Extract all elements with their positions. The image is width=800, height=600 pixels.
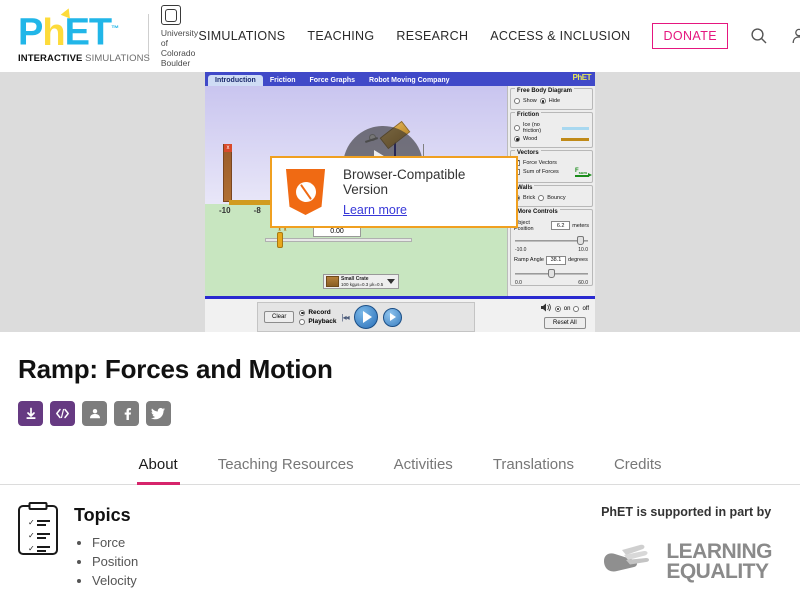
learning-equality-hand-icon [600, 541, 658, 583]
force-vectors-label: Force Vectors [523, 160, 557, 166]
object-position-unit: meters [572, 223, 589, 229]
ramp-angle-label: Ramp Angle [514, 257, 544, 263]
download-button[interactable] [18, 401, 43, 426]
tab-credits[interactable]: Credits [612, 450, 664, 484]
share-button[interactable] [82, 401, 107, 426]
logo-divider [148, 14, 149, 58]
coffee-bean-glyph [292, 178, 320, 206]
sponsor-label: PhET is supported in part by [600, 505, 772, 519]
playback-controls: Clear Record Playback |◂◂ [257, 302, 475, 332]
sim-mini-logo: PhET [573, 73, 591, 82]
cu-line-1: University [161, 28, 198, 38]
record-label: Record [308, 309, 330, 316]
sound-on-label: on [564, 306, 571, 312]
walls-group: Walls Brick Bouncy [510, 185, 593, 207]
cu-mark-icon [161, 5, 181, 25]
tick--8: -8 [254, 206, 261, 215]
clipboard-check-2: ✓ [28, 532, 35, 540]
crate-thumbnail-icon [326, 276, 339, 287]
search-icon[interactable] [750, 27, 768, 45]
sim-bottom-toolbar: Clear Record Playback |◂◂ [205, 296, 595, 332]
clipboard-check-3: ✓ [28, 545, 35, 553]
more-controls-group: More Controls Object Position 6.2 meters… [510, 209, 593, 286]
playback-row[interactable]: Playback [299, 318, 336, 325]
playback-label: Playback [308, 318, 336, 325]
badge-learn-more-link[interactable]: Learn more [343, 203, 502, 217]
sound-controls: on off [541, 303, 589, 314]
object-position-label: Object Position [514, 220, 549, 232]
ramp-angle-unit: degrees [568, 257, 588, 263]
reset-all-button[interactable]: Reset All [544, 317, 586, 329]
friction-ice-radio[interactable] [514, 125, 520, 131]
walls-bouncy-label: Bouncy [547, 195, 565, 201]
fsum-arrow-icon [575, 175, 589, 177]
friction-ice-row: Ice (no friction) [514, 122, 589, 134]
friction-title: Friction [515, 112, 541, 118]
content-tabs: About Teaching Resources Activities Tran… [0, 450, 800, 485]
applied-force-slider[interactable] [265, 238, 412, 242]
donate-button[interactable]: DONATE [652, 23, 728, 49]
nav-item-research[interactable]: RESEARCH [396, 29, 468, 43]
chevron-down-icon[interactable] [387, 279, 395, 284]
fbd-show-radio[interactable] [514, 98, 520, 104]
badge-title: Browser-Compatible Version [343, 167, 502, 197]
crate-name: Small Crate [341, 276, 369, 282]
sound-and-reset-area: on off Reset All [541, 303, 589, 329]
sum-of-forces-row: Sum of Forces Fsum [514, 168, 589, 177]
friction-group: Friction Ice (no friction) Wood [510, 112, 593, 148]
sound-off-label: off [582, 306, 589, 312]
sim-tab-introduction[interactable]: Introduction [208, 75, 263, 86]
topic-force: Force [92, 533, 138, 552]
twitter-button[interactable] [146, 401, 171, 426]
sim-control-panel: Free Body Diagram Show Hide Friction Ice… [507, 86, 595, 296]
ice-swatch [562, 127, 589, 130]
rewind-icon[interactable]: |◂◂ [342, 313, 349, 322]
record-row[interactable]: Record [299, 309, 336, 316]
fbd-hide-radio[interactable] [540, 98, 546, 104]
le-line-2: EQUALITY [666, 562, 772, 582]
fbd-title: Free Body Diagram [515, 88, 574, 94]
nav-item-teaching[interactable]: TEACHING [307, 29, 374, 43]
clear-button[interactable]: Clear [264, 311, 294, 323]
tab-translations[interactable]: Translations [491, 450, 576, 484]
object-selector-dropdown[interactable]: Small Crate 100 kgμs=0.3 μk=0.5 [323, 274, 399, 289]
record-radio[interactable] [299, 310, 305, 316]
playback-radio[interactable] [299, 319, 305, 325]
force-vectors-row: Force Vectors [514, 160, 589, 166]
logo-letter-h: h [42, 12, 64, 54]
action-buttons-row [18, 401, 782, 426]
walls-brick-label: Brick [523, 195, 535, 201]
walls-options: Brick Bouncy [514, 195, 589, 201]
cu-line-3: Boulder [161, 58, 198, 68]
sim-tab-force-graphs[interactable]: Force Graphs [303, 75, 363, 86]
topic-position: Position [92, 552, 138, 571]
play-button[interactable] [354, 305, 378, 329]
object-position-input[interactable]: 6.2 [551, 221, 570, 230]
ramp-angle-slider[interactable]: 0.0 60.0 [515, 269, 588, 281]
object-position-slider-knob[interactable] [577, 236, 584, 245]
sponsor-block: PhET is supported in part by LEARNING EQ… [600, 505, 782, 590]
object-position-min: -10.0 [515, 247, 526, 253]
fsum-vector-icon: Fsum [575, 168, 589, 177]
logo-tagline-bold: INTERACTIVE [18, 53, 82, 64]
clipboard-checklist-icon: ✓ ✓ ✓ [18, 505, 58, 555]
record-playback-group: Record Playback [299, 309, 336, 325]
site-header: PhET™ INTERACTIVE SIMULATIONS University… [0, 0, 800, 72]
friction-wood-label: Wood [523, 136, 537, 142]
logo-tm: ™ [111, 24, 118, 33]
friction-wood-radio[interactable] [514, 136, 520, 142]
sound-on-radio[interactable] [555, 306, 561, 312]
friction-ice-label: Ice (no friction) [523, 122, 559, 134]
page-title: Ramp: Forces and Motion [18, 354, 782, 385]
sim-tab-bar: Introduction Friction Force Graphs Robot… [205, 72, 595, 86]
sum-of-forces-label: Sum of Forces [523, 169, 559, 175]
wall-remove-icon[interactable]: x [224, 144, 232, 152]
more-controls-title: More Controls [515, 209, 560, 215]
ramp-angle-max: 60.0 [578, 280, 588, 286]
crate-specs: 100 kgμs=0.3 μk=0.5 [341, 282, 383, 288]
free-body-diagram-group: Free Body Diagram Show Hide [510, 88, 593, 110]
facebook-button[interactable] [114, 401, 139, 426]
main-nav: SIMULATIONS TEACHING RESEARCH ACCESS & I… [198, 23, 800, 49]
wall-post [223, 144, 232, 202]
nav-item-access-inclusion[interactable]: ACCESS & INCLUSION [490, 29, 630, 43]
object-position-max: 10.0 [578, 247, 588, 253]
learning-equality-logo[interactable]: LEARNING EQUALITY [600, 541, 772, 583]
ramp-angle-min: 0.0 [515, 280, 522, 286]
sound-off-radio[interactable] [573, 306, 579, 312]
tick--10: -10 [219, 206, 231, 215]
phet-logo-block[interactable]: PhET™ INTERACTIVE SIMULATIONS University… [18, 5, 198, 68]
wood-swatch [561, 138, 589, 141]
applied-force-slider-knob[interactable] [277, 232, 283, 248]
walls-bouncy-radio[interactable] [538, 195, 544, 201]
clipboard-check-1: ✓ [28, 519, 35, 527]
ramp-angle-input[interactable]: 38.1 [546, 256, 566, 265]
title-section: Ramp: Forces and Motion [0, 332, 800, 426]
tab-about[interactable]: About [137, 450, 180, 484]
user-icon[interactable] [790, 27, 800, 45]
sim-tab-friction[interactable]: Friction [263, 75, 303, 86]
topics-list: Force Position Velocity [92, 533, 138, 590]
le-line-1: LEARNING [666, 542, 772, 562]
object-position-slider[interactable]: -10.0 10.0 [515, 236, 588, 248]
vectors-title: Vectors [515, 150, 541, 156]
fbd-hide-label: Hide [549, 98, 560, 104]
logo-letter-et: ET [65, 12, 112, 54]
topics-block: ✓ ✓ ✓ Topics Force Position Velocity [18, 505, 138, 590]
ramp-angle-row: Ramp Angle 38.1 degrees [514, 256, 589, 265]
simulation-strip: Introduction Friction Force Graphs Robot… [0, 72, 800, 332]
tab-activities[interactable]: Activities [392, 450, 455, 484]
html5-shield-icon [286, 169, 325, 215]
cu-boulder-logo[interactable]: University of Colorado Boulder [161, 5, 198, 68]
fbd-show-label: Show [523, 98, 537, 104]
cu-line-2: of Colorado [161, 38, 198, 58]
step-forward-button[interactable] [383, 308, 402, 327]
vectors-group: Vectors Force Vectors Sum of Forces Fsum [510, 150, 593, 183]
speaker-icon [541, 303, 552, 314]
logo-tagline-gray: SIMULATIONS [82, 53, 150, 64]
topic-velocity: Velocity [92, 571, 138, 590]
clipboard-clip [29, 502, 48, 510]
logo-tagline: INTERACTIVE SIMULATIONS [18, 53, 136, 64]
logo-letter-p: P [18, 12, 42, 54]
sim-tab-robot-moving-company[interactable]: Robot Moving Company [362, 75, 457, 86]
embed-button[interactable] [50, 401, 75, 426]
phet-logo[interactable]: PhET™ INTERACTIVE SIMULATIONS [18, 10, 136, 62]
ramp-angle-slider-knob[interactable] [548, 269, 555, 278]
topics-title: Topics [74, 505, 138, 526]
tab-teaching-resources[interactable]: Teaching Resources [216, 450, 356, 484]
bottom-section: ✓ ✓ ✓ Topics Force Position Velocity PhE… [0, 485, 800, 590]
object-position-row: Object Position 6.2 meters [514, 220, 589, 232]
friction-wood-row: Wood [514, 136, 589, 142]
fbd-options: Show Hide [514, 98, 589, 104]
browser-compatible-badge: Browser-Compatible Version Learn more [270, 156, 518, 228]
nav-item-simulations[interactable]: SIMULATIONS [198, 29, 285, 43]
